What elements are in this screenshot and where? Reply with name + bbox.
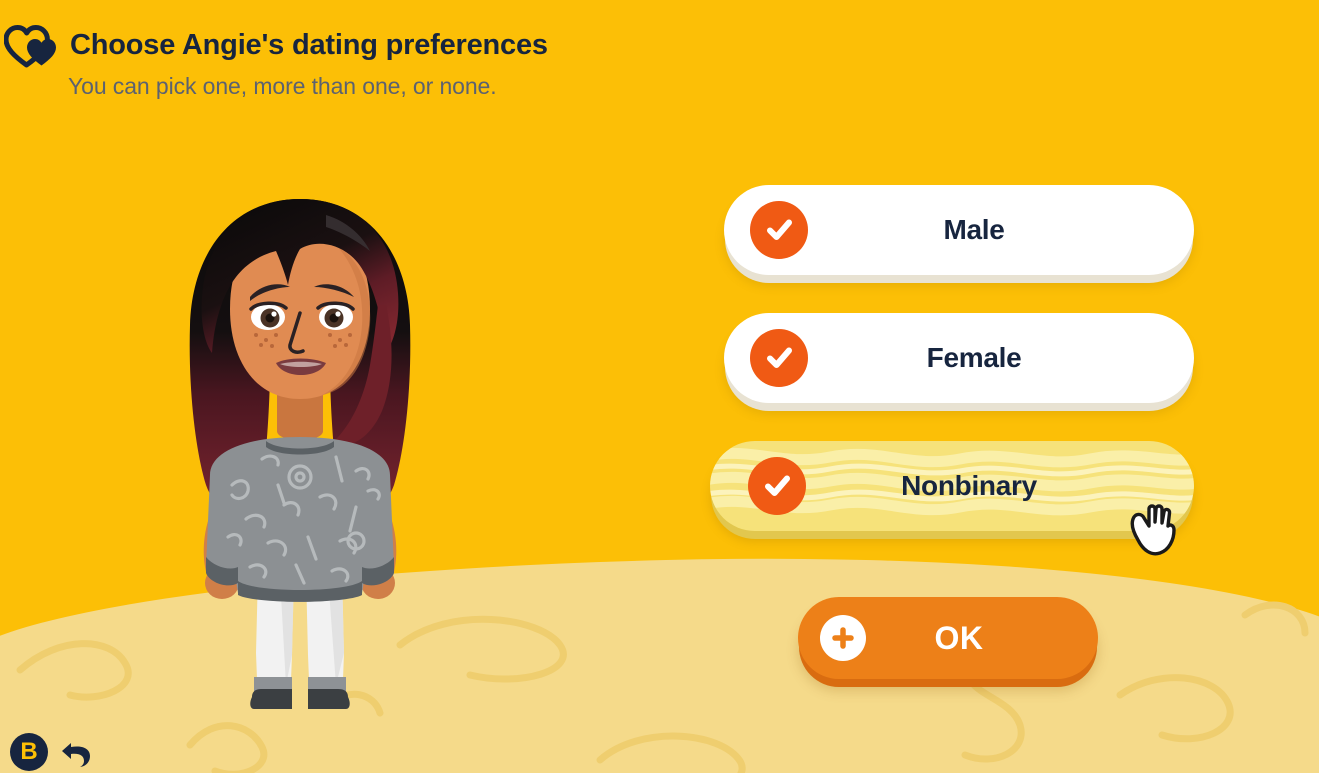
plus-icon [820,615,866,661]
checkmark-icon [748,457,806,515]
back-arrow-icon[interactable] [56,734,92,770]
title-row: Choose Angie's dating preferences [0,22,700,68]
option-label: Nonbinary [806,470,1194,502]
game-screen: Choose Angie's dating preferences You ca… [0,0,1319,773]
ok-button-label: OK [866,620,1098,657]
option-female[interactable]: Female [724,313,1194,403]
character-avatar [150,185,450,715]
option-male[interactable]: Male [724,185,1194,275]
back-control[interactable]: B [10,733,92,771]
b-button-badge[interactable]: B [10,733,48,771]
option-label: Female [808,342,1194,374]
checkmark-icon [750,329,808,387]
option-nonbinary[interactable]: Nonbinary [710,441,1194,531]
checkmark-icon [750,201,808,259]
option-label: Male [808,214,1194,246]
ok-button[interactable]: OK [798,597,1098,679]
header: Choose Angie's dating preferences You ca… [0,22,700,100]
page-subtitle: You can pick one, more than one, or none… [68,73,700,100]
hearts-icon [4,24,58,68]
preference-options-list: Male Female [724,185,1194,569]
page-title: Choose Angie's dating preferences [70,29,548,62]
